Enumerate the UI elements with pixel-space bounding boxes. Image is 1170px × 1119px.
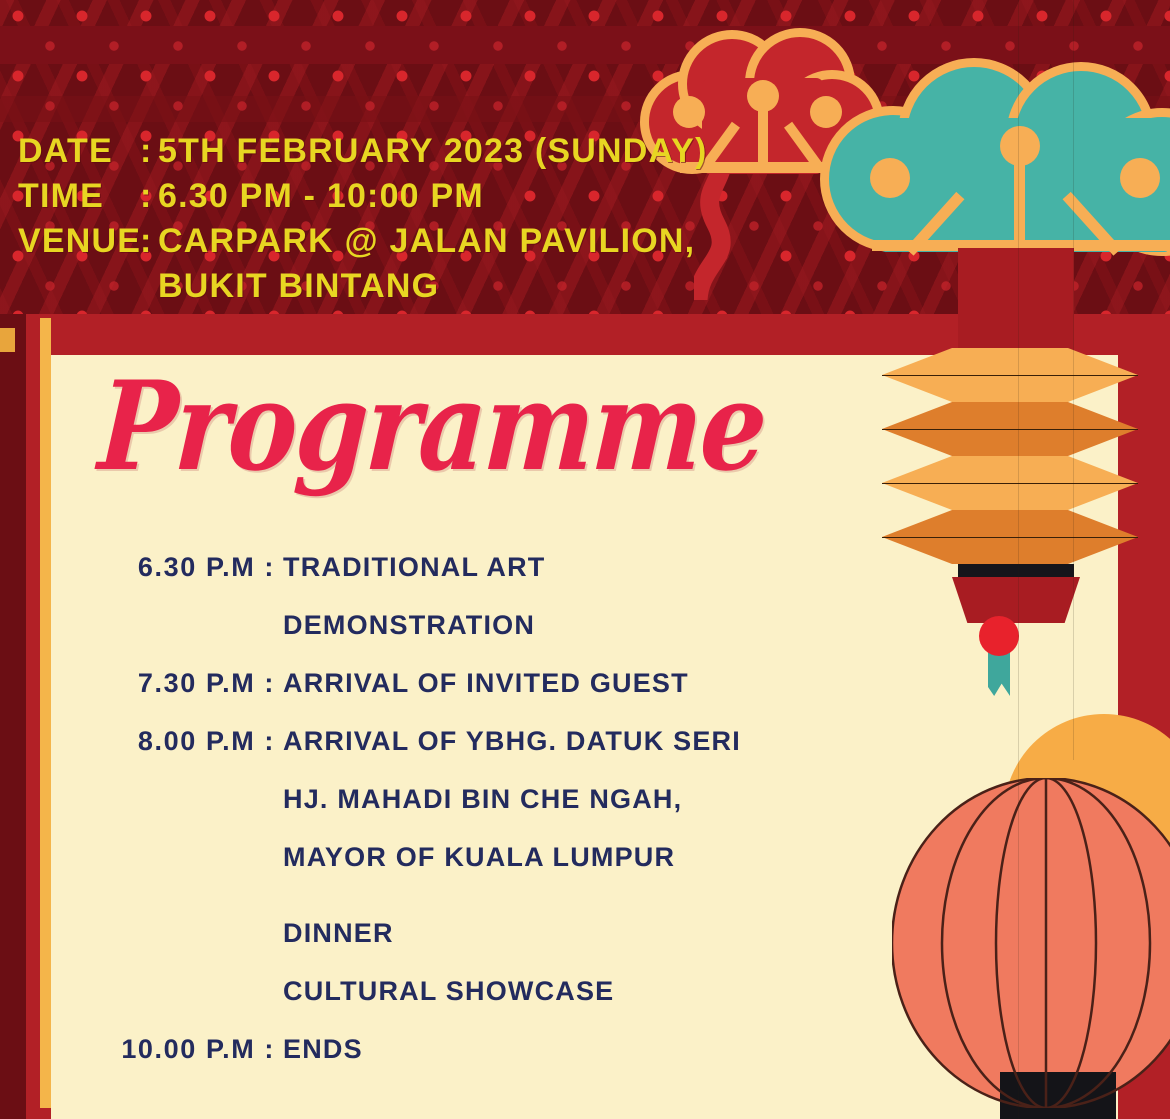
lantern-meridian-lines [892,778,1170,1108]
page-title: Programme [96,365,769,488]
lantern-bottom-cap [952,577,1080,623]
flower-teal-stem-tip [1164,240,1170,251]
schedule-description: ARRIVAL OF YBHG. DATUK SERI HJ. MAHADI B… [283,712,951,886]
schedule-description: CULTURAL SHOWCASE [283,962,951,1020]
event-detail-date: DATE : 5TH FEBRUARY 2023 (SUNDAY) [18,129,708,174]
date-value: 5TH FEBRUARY 2023 (SUNDAY) [158,129,708,174]
stamen-dot [1120,158,1160,198]
venue-colon: : [140,219,158,264]
event-detail-venue-continued: BUKIT BINTANG [18,264,708,309]
gold-vertical-rule [40,318,51,1108]
schedule-row: 8.00 P.M : ARRIVAL OF YBHG. DATUK SERI H… [51,712,951,886]
lantern-folds [880,348,1140,568]
artwork-hairline [1018,0,1019,1119]
stamen-dot [870,158,910,198]
accordion-lantern-icon [880,248,1140,668]
schedule-time: 7.30 P.M : [51,654,283,712]
schedule-row: CULTURAL SHOWCASE [51,962,951,1020]
schedule-description: DINNER [283,904,951,962]
schedule-row: 6.30 P.M : TRADITIONAL ART DEMONSTRATION [51,538,951,654]
venue-label: VENUE [18,219,140,264]
gold-corner-tab [0,328,15,352]
schedule-description-line: HJ. MAHADI BIN CHE NGAH, [283,770,951,828]
schedule-description: ARRIVAL OF INVITED GUEST [283,654,951,712]
schedule-description-line: DINNER [283,904,951,962]
event-detail-venue: VENUE : CARPARK @ JALAN PAVILION, [18,219,708,264]
stamen [1014,162,1025,250]
date-colon: : [140,129,158,174]
time-value: 6.30 PM - 10:00 PM [158,174,484,219]
venue-value-line2: BUKIT BINTANG [158,264,439,309]
schedule-description: TRADITIONAL ART DEMONSTRATION [283,538,951,654]
schedule-row: 7.30 P.M : ARRIVAL OF INVITED GUEST [51,654,951,712]
cny-programme-poster: DATE : 5TH FEBRUARY 2023 (SUNDAY) TIME :… [0,0,1170,1119]
time-colon: : [140,174,158,219]
artwork-hairline [1073,0,1074,760]
venue-value: CARPARK @ JALAN PAVILION, [158,219,695,264]
lantern-bottom-stripe [958,564,1074,577]
schedule-time: 8.00 P.M : [51,712,283,770]
schedule-description-line: ENDS [283,1020,951,1078]
plum-blossom-teal-icon [820,48,1170,268]
date-label: DATE [18,129,140,174]
time-label: TIME [18,174,140,219]
schedule-description-line: ARRIVAL OF INVITED GUEST [283,654,951,712]
event-detail-time: TIME : 6.30 PM - 10:00 PM [18,174,708,219]
stamen [758,104,768,170]
stamen-dot [673,96,705,128]
programme-schedule: 6.30 P.M : TRADITIONAL ART DEMONSTRATION… [51,538,951,1078]
schedule-description-line: DEMONSTRATION [283,596,951,654]
schedule-description: ENDS [283,1020,951,1078]
schedule-row: 10.00 P.M : ENDS [51,1020,951,1078]
stamen-dot [1000,126,1040,166]
stamen-dot [747,80,779,112]
schedule-description-line: MAYOR OF KUALA LUMPUR [283,828,951,886]
schedule-description-line: TRADITIONAL ART [283,538,951,596]
round-lantern-icon [892,700,1170,1119]
schedule-description-line: ARRIVAL OF YBHG. DATUK SERI [283,712,951,770]
schedule-time: 10.00 P.M : [51,1020,283,1078]
schedule-row: DINNER [51,904,951,962]
event-details: DATE : 5TH FEBRUARY 2023 (SUNDAY) TIME :… [18,129,708,309]
schedule-description-line: CULTURAL SHOWCASE [283,962,951,1020]
schedule-time: 6.30 P.M : [51,538,283,596]
lantern-pompom [979,616,1019,656]
lantern-neck [958,248,1074,364]
